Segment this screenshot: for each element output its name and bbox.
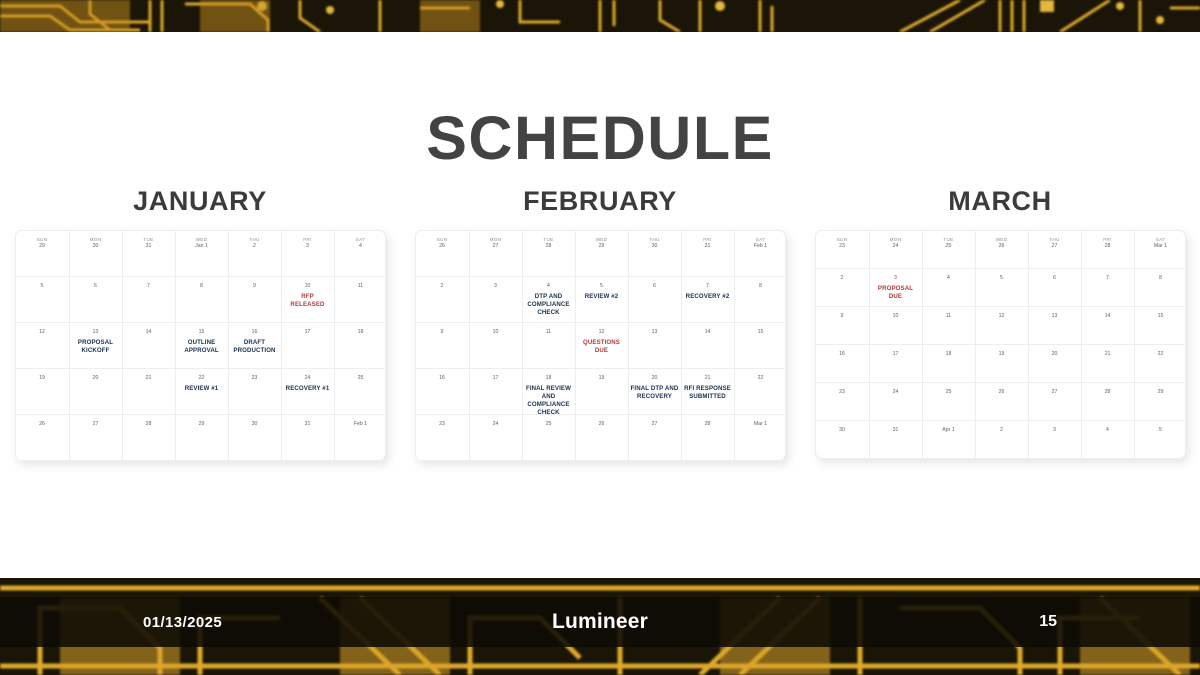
calendar-day-cell[interactable]: 25 (922, 383, 975, 420)
day-number: 31 (682, 243, 734, 250)
calendar-day-cell[interactable]: 12QUESTIONS DUE (575, 323, 628, 368)
calendar-day-cell[interactable]: 2 (975, 421, 1028, 458)
calendar-event-label: DTP AND COMPLIANCE CHECK (523, 293, 575, 316)
day-number: 13 (629, 329, 681, 336)
calendar-day-cell[interactable]: 19 (16, 369, 69, 414)
day-number: 11 (523, 329, 575, 336)
day-number: 20 (1029, 351, 1081, 358)
calendar-day-cell[interactable]: 10 (469, 323, 522, 368)
calendar-week-row: SUN23MON24TUE25WED26THU27FRI28SATMar 1 (816, 231, 1185, 268)
calendar-day-cell[interactable]: 11 (334, 277, 386, 322)
month-heading: FEBRUARY (523, 186, 677, 217)
calendar-march: SUN23MON24TUE25WED26THU27FRI28SATMar 123… (815, 230, 1186, 459)
calendar-event-label: DRAFT PRODUCTION (229, 339, 281, 355)
month-heading: JANUARY (133, 186, 267, 217)
calendar-event-label: RECOVERY #1 (282, 385, 334, 393)
day-number: 30 (70, 243, 122, 250)
calendar-week-row: 23242526272829 (816, 382, 1185, 420)
day-number: 2 (976, 427, 1028, 434)
day-number: 24 (870, 389, 922, 396)
day-number: 4 (523, 283, 575, 290)
day-number: 3 (870, 275, 922, 282)
calendar-week-row: 1213PROPOSAL KICKOFF1415OUTLINE APPROVAL… (16, 322, 385, 368)
calendar-day-cell[interactable]: 6 (1028, 269, 1081, 306)
day-number: Feb 1 (335, 421, 386, 428)
day-number: Jan 1 (176, 243, 228, 250)
day-number: 2 (229, 243, 281, 250)
day-number: 6 (629, 283, 681, 290)
day-number: 16 (416, 375, 469, 382)
day-number: 27 (470, 243, 522, 250)
day-number: Mar 1 (1135, 243, 1186, 250)
calendar-day-cell[interactable]: 8 (175, 277, 228, 322)
calendar-day-cell[interactable]: Feb 1 (334, 415, 386, 460)
calendar-day-cell[interactable]: THU30 (628, 231, 681, 276)
calendar-day-cell[interactable]: 14 (122, 323, 175, 368)
calendar-event-label: QUESTIONS DUE (576, 339, 628, 355)
calendar-day-cell[interactable]: 22 (1134, 345, 1186, 382)
calendar-day-cell[interactable]: WED26 (975, 231, 1028, 268)
footer-bar: 01/13/2025 Lumineer 15 (0, 597, 1200, 647)
calendar-week-row: 232425262728Mar 1 (416, 414, 785, 460)
calendar-day-cell[interactable]: 17 (869, 345, 922, 382)
day-number: 27 (1029, 389, 1081, 396)
calendar-day-cell[interactable]: 25 (334, 369, 386, 414)
calendar-january: SUN29MON30TUE31WEDJan 1THU2FRI3SAT456789… (15, 230, 386, 461)
day-number: 28 (1082, 389, 1134, 396)
calendar-day-cell[interactable]: 4DTP AND COMPLIANCE CHECK (522, 277, 575, 322)
day-number: 13 (70, 329, 122, 336)
calendar-event-label: RECOVERY #2 (682, 293, 734, 301)
day-number: 12 (16, 329, 69, 336)
calendar-february: SUN26MON27TUE28WED29THU30FRI31SATFeb 123… (415, 230, 786, 461)
day-number: 27 (629, 421, 681, 428)
day-number: 18 (923, 351, 975, 358)
day-number: 20 (70, 375, 122, 382)
circuit-pattern-top (0, 0, 1200, 32)
day-number: 28 (523, 243, 575, 250)
calendar-day-cell[interactable]: 22 (734, 369, 786, 414)
day-number: Apr 1 (923, 427, 975, 434)
calendar-week-row: 23PROPOSAL DUE45678 (816, 268, 1185, 306)
calendar-day-cell[interactable]: 27 (628, 415, 681, 460)
calendar-day-cell[interactable]: 9 (816, 307, 869, 344)
day-number: 15 (176, 329, 228, 336)
calendar-day-cell[interactable]: SATFeb 1 (734, 231, 786, 276)
calendar-day-cell[interactable]: FRI3 (281, 231, 334, 276)
day-number: 24 (870, 243, 922, 250)
day-number: 2 (416, 283, 469, 290)
calendar-day-cell[interactable]: 11 (522, 323, 575, 368)
calendar-day-cell[interactable]: 26 (975, 383, 1028, 420)
calendar-day-cell[interactable]: 8 (734, 277, 786, 322)
month-block-february: FEBRUARY SUN26MON27TUE28WED29THU30FRI31S… (400, 186, 800, 461)
calendar-day-cell[interactable]: 15 (734, 323, 786, 368)
day-number: 7 (123, 283, 175, 290)
day-number: 9 (416, 329, 469, 336)
calendar-day-cell[interactable]: MON24 (869, 231, 922, 268)
day-number: 12 (576, 329, 628, 336)
calendar-day-cell[interactable]: THU2 (228, 231, 281, 276)
day-number: 2 (816, 275, 869, 282)
day-number: 30 (229, 421, 281, 428)
calendar-week-row: SUN29MON30TUE31WEDJan 1THU2FRI3SAT4 (16, 231, 385, 276)
calendar-day-cell[interactable]: 13 (1028, 307, 1081, 344)
day-number: 26 (976, 389, 1028, 396)
day-number: 25 (923, 389, 975, 396)
day-number: 4 (923, 275, 975, 282)
calendar-day-cell[interactable]: SUN29 (16, 231, 69, 276)
calendar-day-cell[interactable]: 20FINAL DTP AND RECOVERY (628, 369, 681, 414)
day-number: 24 (470, 421, 522, 428)
day-number: 25 (923, 243, 975, 250)
calendar-day-cell[interactable]: 2 (816, 269, 869, 306)
calendar-day-cell[interactable]: 21RFI RESPONSE SUBMITTED (681, 369, 734, 414)
day-number: 17 (470, 375, 522, 382)
calendar-day-cell[interactable]: 3 (469, 277, 522, 322)
day-number: 10 (470, 329, 522, 336)
calendar-day-cell[interactable]: 21 (1081, 345, 1134, 382)
calendar-day-cell[interactable]: 9 (416, 323, 469, 368)
day-number: 10 (870, 313, 922, 320)
calendar-day-cell[interactable]: 5REVIEW #2 (575, 277, 628, 322)
day-number: 22 (1135, 351, 1186, 358)
calendar-day-cell[interactable]: 25 (522, 415, 575, 460)
calendar-day-cell[interactable]: 23 (228, 369, 281, 414)
calendar-day-cell[interactable]: 6 (69, 277, 122, 322)
day-number: 9 (229, 283, 281, 290)
day-number: 17 (282, 329, 334, 336)
day-number: 14 (123, 329, 175, 336)
calendar-week-row: 234DTP AND COMPLIANCE CHECK5REVIEW #267R… (416, 276, 785, 322)
calendar-day-cell[interactable]: 30 (816, 421, 869, 458)
day-number: 13 (1029, 313, 1081, 320)
calendar-day-cell[interactable]: 17 (281, 323, 334, 368)
day-number: 21 (682, 375, 734, 382)
month-heading: MARCH (948, 186, 1052, 217)
calendar-day-cell[interactable]: 3PROPOSAL DUE (869, 269, 922, 306)
calendar-day-cell[interactable]: FRI28 (1081, 231, 1134, 268)
day-number: 25 (335, 375, 386, 382)
day-number: 5 (976, 275, 1028, 282)
day-number: 16 (816, 351, 869, 358)
calendar-day-cell[interactable]: 19 (575, 369, 628, 414)
day-number: 26 (416, 243, 469, 250)
calendar-day-cell[interactable]: 27 (69, 415, 122, 460)
day-number: Mar 1 (735, 421, 786, 428)
calendar-day-cell[interactable]: 30 (228, 415, 281, 460)
calendar-day-cell[interactable]: 2 (416, 277, 469, 322)
day-number: 11 (335, 283, 386, 290)
day-number: 8 (176, 283, 228, 290)
day-number: 19 (976, 351, 1028, 358)
calendar-day-cell[interactable]: 18 (922, 345, 975, 382)
day-number: 14 (1082, 313, 1134, 320)
day-number: 3 (470, 283, 522, 290)
calendar-day-cell[interactable]: 13 (628, 323, 681, 368)
calendar-week-row: 9101112131415 (816, 306, 1185, 344)
day-number: 21 (1082, 351, 1134, 358)
day-number: 26 (16, 421, 69, 428)
day-number: 18 (523, 375, 575, 382)
calendar-day-cell[interactable]: 7 (1081, 269, 1134, 306)
calendar-day-cell[interactable]: 29 (175, 415, 228, 460)
day-number: 4 (1082, 427, 1134, 434)
day-number: 7 (1082, 275, 1134, 282)
calendar-day-cell[interactable]: 15 (1134, 307, 1186, 344)
calendar-day-cell[interactable]: TUE25 (922, 231, 975, 268)
day-number: Feb 1 (735, 243, 786, 250)
calendar-day-cell[interactable]: 7 (122, 277, 175, 322)
month-block-march: MARCH SUN23MON24TUE25WED26THU27FRI28SATM… (800, 186, 1200, 461)
calendar-event-label: REVIEW #2 (576, 293, 628, 301)
calendar-day-cell[interactable]: 27 (1028, 383, 1081, 420)
day-number: 21 (123, 375, 175, 382)
month-block-january: JANUARY SUN29MON30TUE31WEDJan 1THU2FRI3S… (0, 186, 400, 461)
day-number: 26 (576, 421, 628, 428)
day-number: 3 (282, 243, 334, 250)
day-number: 31 (870, 427, 922, 434)
day-number: 9 (816, 313, 869, 320)
calendar-event-label: FINAL DTP AND RECOVERY (629, 385, 681, 401)
calendar-event-label: REVIEW #1 (176, 385, 228, 393)
calendar-day-cell[interactable]: 16 (816, 345, 869, 382)
calendar-day-cell[interactable]: SAT4 (334, 231, 386, 276)
calendar-day-cell[interactable]: TUE31 (122, 231, 175, 276)
day-number: 22 (735, 375, 786, 382)
calendar-day-cell[interactable]: 28 (122, 415, 175, 460)
day-number: 28 (1082, 243, 1134, 250)
calendar-day-cell[interactable]: 28 (1081, 383, 1134, 420)
day-number: 5 (576, 283, 628, 290)
calendar-day-cell[interactable]: WEDJan 1 (175, 231, 228, 276)
calendar-week-row: 262728293031Feb 1 (16, 414, 385, 460)
calendar-day-cell[interactable]: 9 (228, 277, 281, 322)
calendar-day-cell[interactable]: WED29 (575, 231, 628, 276)
calendar-day-cell[interactable]: SUN23 (816, 231, 869, 268)
day-number: 23 (416, 421, 469, 428)
calendar-day-cell[interactable]: 10 (869, 307, 922, 344)
day-number: 7 (682, 283, 734, 290)
calendar-day-cell[interactable]: 23 (816, 383, 869, 420)
day-number: 31 (123, 243, 175, 250)
calendar-day-cell[interactable]: TUE28 (522, 231, 575, 276)
day-number: 5 (1135, 427, 1186, 434)
day-number: 12 (976, 313, 1028, 320)
calendar-day-cell[interactable]: 13PROPOSAL KICKOFF (69, 323, 122, 368)
calendar-week-row: 9101112QUESTIONS DUE131415 (416, 322, 785, 368)
day-number: 6 (1029, 275, 1081, 282)
day-number: 28 (123, 421, 175, 428)
day-number: 22 (176, 375, 228, 382)
calendar-day-cell[interactable]: 14 (1081, 307, 1134, 344)
calendars-container: JANUARY SUN29MON30TUE31WEDJan 1THU2FRI3S… (0, 186, 1200, 461)
calendar-week-row: 3031Apr 12345 (816, 420, 1185, 458)
calendar-day-cell[interactable]: 12 (975, 307, 1028, 344)
calendar-day-cell[interactable]: THU27 (1028, 231, 1081, 268)
calendar-day-cell[interactable]: 22REVIEW #1 (175, 369, 228, 414)
calendar-day-cell[interactable]: Mar 1 (734, 415, 786, 460)
calendar-day-cell[interactable]: 28 (681, 415, 734, 460)
calendar-day-cell[interactable]: 10RFP RELEASED (281, 277, 334, 322)
day-number: 20 (629, 375, 681, 382)
calendar-day-cell[interactable]: 18 (334, 323, 386, 368)
footer-date: 01/13/2025 (143, 614, 222, 631)
day-number: 11 (923, 313, 975, 320)
calendar-day-cell[interactable]: 17 (469, 369, 522, 414)
day-number: 15 (735, 329, 786, 336)
calendar-week-row: 19202122REVIEW #12324RECOVERY #125 (16, 368, 385, 414)
day-number: 8 (1135, 275, 1186, 282)
top-decorative-band (0, 0, 1200, 32)
calendar-day-cell[interactable]: MON30 (69, 231, 122, 276)
day-number: 10 (282, 283, 334, 290)
calendar-day-cell[interactable]: 5 (1134, 421, 1186, 458)
day-number: 30 (816, 427, 869, 434)
footer-page-number: 15 (1039, 613, 1057, 631)
calendar-week-row: 161718FINAL REVIEW AND COMPLIANCE CHECK1… (416, 368, 785, 414)
calendar-day-cell[interactable]: 5 (975, 269, 1028, 306)
calendar-event-label: OUTLINE APPROVAL (176, 339, 228, 355)
day-number: 31 (282, 421, 334, 428)
calendar-day-cell[interactable]: 29 (1134, 383, 1186, 420)
day-number: 16 (229, 329, 281, 336)
calendar-day-cell[interactable]: 15OUTLINE APPROVAL (175, 323, 228, 368)
day-number: 27 (1029, 243, 1081, 250)
day-number: 6 (70, 283, 122, 290)
calendar-week-row: 16171819202122 (816, 344, 1185, 382)
calendar-day-cell[interactable]: 12 (16, 323, 69, 368)
calendar-day-cell[interactable]: 16DRAFT PRODUCTION (228, 323, 281, 368)
day-number: 3 (1029, 427, 1081, 434)
calendar-day-cell[interactable]: 21 (122, 369, 175, 414)
day-number: 17 (870, 351, 922, 358)
calendar-day-cell[interactable]: 14 (681, 323, 734, 368)
calendar-day-cell[interactable]: 4 (922, 269, 975, 306)
calendar-day-cell[interactable]: 31 (281, 415, 334, 460)
day-number: 15 (1135, 313, 1186, 320)
day-number: 23 (229, 375, 281, 382)
calendar-day-cell[interactable]: 6 (628, 277, 681, 322)
day-number: 27 (70, 421, 122, 428)
day-number: 30 (629, 243, 681, 250)
calendar-day-cell[interactable]: 24 (869, 383, 922, 420)
calendar-day-cell[interactable]: 31 (869, 421, 922, 458)
day-number: 29 (176, 421, 228, 428)
day-number: 26 (976, 243, 1028, 250)
calendar-day-cell[interactable]: 4 (1081, 421, 1134, 458)
calendar-day-cell[interactable]: MON27 (469, 231, 522, 276)
day-number: 29 (576, 243, 628, 250)
day-number: 29 (16, 243, 69, 250)
calendar-day-cell[interactable]: 11 (922, 307, 975, 344)
calendar-day-cell[interactable]: 24RECOVERY #1 (281, 369, 334, 414)
day-number: 4 (335, 243, 386, 250)
calendar-day-cell[interactable]: SATMar 1 (1134, 231, 1186, 268)
calendar-week-row: 5678910RFP RELEASED11 (16, 276, 385, 322)
day-number: 23 (816, 243, 869, 250)
day-number: 29 (1135, 389, 1186, 396)
calendar-event-label: PROPOSAL KICKOFF (70, 339, 122, 355)
calendar-day-cell[interactable]: 19 (975, 345, 1028, 382)
calendar-week-row: SUN26MON27TUE28WED29THU30FRI31SATFeb 1 (416, 231, 785, 276)
calendar-day-cell[interactable]: 16 (416, 369, 469, 414)
calendar-day-cell[interactable]: 7RECOVERY #2 (681, 277, 734, 322)
calendar-event-label: RFP RELEASED (282, 293, 334, 309)
calendar-day-cell[interactable]: 26 (16, 415, 69, 460)
calendar-day-cell[interactable]: 24 (469, 415, 522, 460)
calendar-day-cell[interactable]: Apr 1 (922, 421, 975, 458)
calendar-day-cell[interactable]: FRI31 (681, 231, 734, 276)
day-number: 8 (735, 283, 786, 290)
calendar-event-label: FINAL REVIEW AND COMPLIANCE CHECK (523, 385, 575, 416)
day-number: 25 (523, 421, 575, 428)
day-number: 19 (576, 375, 628, 382)
calendar-day-cell[interactable]: 20 (69, 369, 122, 414)
calendar-day-cell[interactable]: 5 (16, 277, 69, 322)
calendar-day-cell[interactable]: 18FINAL REVIEW AND COMPLIANCE CHECK (522, 369, 575, 414)
calendar-event-label: RFI RESPONSE SUBMITTED (682, 385, 734, 401)
calendar-day-cell[interactable]: 8 (1134, 269, 1186, 306)
calendar-day-cell[interactable]: 23 (416, 415, 469, 460)
day-number: 23 (816, 389, 869, 396)
day-number: 28 (682, 421, 734, 428)
day-number: 18 (335, 329, 386, 336)
calendar-event-label: PROPOSAL DUE (870, 285, 922, 301)
day-number: 5 (16, 283, 69, 290)
calendar-day-cell[interactable]: 20 (1028, 345, 1081, 382)
day-number: 24 (282, 375, 334, 382)
calendar-day-cell[interactable]: 26 (575, 415, 628, 460)
calendar-day-cell[interactable]: SUN26 (416, 231, 469, 276)
calendar-day-cell[interactable]: 3 (1028, 421, 1081, 458)
day-number: 19 (16, 375, 69, 382)
day-number: 14 (682, 329, 734, 336)
page-title: SCHEDULE (0, 103, 1200, 173)
